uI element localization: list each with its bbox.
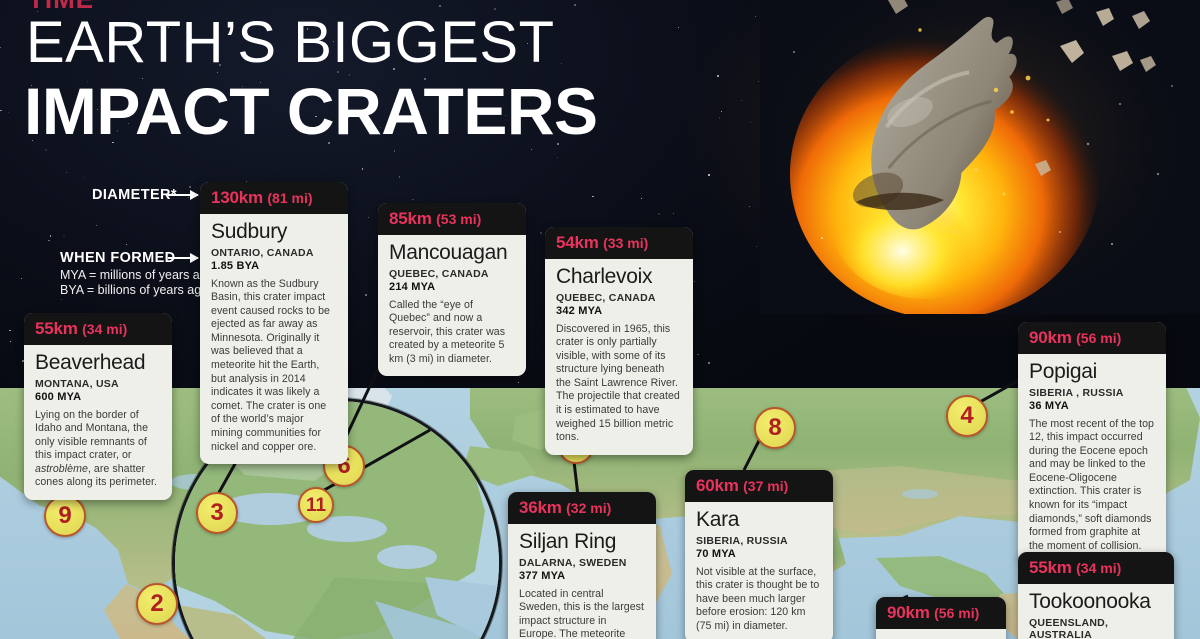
card-body: Popigai SIBERIA , RUSSIA 36 MYA The most… bbox=[1018, 354, 1166, 563]
legend-when-formed-label: WHEN FORMED bbox=[60, 250, 176, 266]
card-header: 90km (56 mi) bbox=[876, 597, 1006, 629]
crater-age: 70 MYA bbox=[696, 548, 822, 560]
crater-name: Popigai bbox=[1029, 360, 1155, 384]
diameter-km: 90km bbox=[1029, 328, 1072, 347]
card-body bbox=[876, 629, 1006, 639]
diameter-mi: (81 mi) bbox=[267, 190, 312, 206]
card-body: Siljan Ring DALARNA, SWEDEN 377 MYA Loca… bbox=[508, 524, 656, 639]
map-pin-11[interactable]: 11 bbox=[298, 487, 334, 523]
crater-location: QUEBEC, CANADA bbox=[556, 292, 682, 304]
crater-name: Sudbury bbox=[211, 220, 337, 244]
crater-age: 36 MYA bbox=[1029, 400, 1155, 412]
card-body: Beaverhead MONTANA, USA 600 MYA Lying on… bbox=[24, 345, 172, 500]
diameter-mi: (32 mi) bbox=[566, 500, 611, 516]
crater-name: Siljan Ring bbox=[519, 530, 645, 554]
diameter-mi: (37 mi) bbox=[743, 478, 788, 494]
crater-card-mancouagan[interactable]: 85km (53 mi) Mancouagan QUEBEC, CANADA 2… bbox=[378, 203, 526, 376]
crater-description: Lying on the border of Idaho and Montana… bbox=[35, 409, 161, 491]
crater-location: SIBERIA , RUSSIA bbox=[1029, 387, 1155, 399]
map-pin-number: 8 bbox=[768, 416, 781, 440]
map-pin-3[interactable]: 3 bbox=[196, 492, 238, 534]
crater-description: Located in central Sweden, this is the l… bbox=[519, 588, 645, 639]
legend-mya-note: MYA = millions of years ago bbox=[60, 268, 214, 283]
map-pin-number: 11 bbox=[306, 496, 326, 515]
card-body: Mancouagan QUEBEC, CANADA 214 MYA Called… bbox=[378, 235, 526, 376]
desc-italic-term: astroblème bbox=[35, 463, 88, 475]
diameter-mi: (33 mi) bbox=[603, 235, 648, 251]
map-pin-number: 4 bbox=[960, 404, 973, 428]
crater-name: Tookoonooka bbox=[1029, 590, 1163, 614]
map-pin-number: 2 bbox=[150, 592, 163, 616]
card-header: 55km (34 mi) bbox=[24, 313, 172, 345]
crater-description: Discovered in 1965, this crater is only … bbox=[556, 323, 682, 445]
crater-card-popigai[interactable]: 90km (56 mi) Popigai SIBERIA , RUSSIA 36… bbox=[1018, 322, 1166, 563]
crater-name: Mancouagan bbox=[389, 241, 515, 265]
card-header: 60km (37 mi) bbox=[685, 470, 833, 502]
desc-part-1: Lying on the border of Idaho and Montana… bbox=[35, 409, 148, 462]
map-pin-8[interactable]: 8 bbox=[754, 407, 796, 449]
map-pin-9[interactable]: 9 bbox=[44, 495, 86, 537]
page-title-line-1: EARTH’S BIGGEST bbox=[26, 14, 555, 72]
card-header: 130km (81 mi) bbox=[200, 182, 348, 214]
card-body: Kara SIBERIA, RUSSIA 70 MYA Not visible … bbox=[685, 502, 833, 639]
map-pin-number: 9 bbox=[58, 504, 71, 528]
diameter-mi: (56 mi) bbox=[934, 605, 979, 621]
crater-location: DALARNA, SWEDEN bbox=[519, 557, 645, 569]
diameter-km: 55km bbox=[1029, 558, 1072, 577]
diameter-mi: (34 mi) bbox=[82, 321, 127, 337]
crater-card-sudbury[interactable]: 130km (81 mi) Sudbury ONTARIO, CANADA 1.… bbox=[200, 182, 348, 464]
card-body: Sudbury ONTARIO, CANADA 1.85 BYA Known a… bbox=[200, 214, 348, 464]
crater-name: Beaverhead bbox=[35, 351, 161, 375]
diameter-km: 60km bbox=[696, 476, 739, 495]
crater-card-siljan-ring[interactable]: 36km (32 mi) Siljan Ring DALARNA, SWEDEN… bbox=[508, 492, 656, 639]
card-header: 54km (33 mi) bbox=[545, 227, 693, 259]
legend-diameter-label: DIAMETER* bbox=[92, 187, 177, 203]
diameter-mi: (56 mi) bbox=[1076, 330, 1121, 346]
diameter-km: 55km bbox=[35, 319, 78, 338]
crater-location: MONTANA, USA bbox=[35, 378, 161, 390]
diameter-km: 90km bbox=[887, 603, 930, 622]
crater-card-beaverhead[interactable]: 55km (34 mi) Beaverhead MONTANA, USA 600… bbox=[24, 313, 172, 500]
diameter-mi: (34 mi) bbox=[1076, 560, 1121, 576]
logo-text: TIME bbox=[28, 0, 94, 8]
crater-location: ONTARIO, CANADA bbox=[211, 247, 337, 259]
diameter-km: 54km bbox=[556, 233, 599, 252]
diameter-km: 85km bbox=[389, 209, 432, 228]
card-body: Charlevoix QUEBEC, CANADA 342 MYA Discov… bbox=[545, 259, 693, 455]
legend-bya-note: BYA = billions of years ago bbox=[60, 283, 208, 298]
card-body: Tookoonooka QUEENSLAND, AUSTRALIA 128 MY… bbox=[1018, 584, 1174, 639]
card-header: 90km (56 mi) bbox=[1018, 322, 1166, 354]
card-header: 55km (34 mi) bbox=[1018, 552, 1174, 584]
crater-age: 342 MYA bbox=[556, 305, 682, 317]
map-pin-4[interactable]: 4 bbox=[946, 395, 988, 437]
crater-card-tookoonooka[interactable]: 55km (34 mi) Tookoonooka QUEENSLAND, AUS… bbox=[1018, 552, 1174, 639]
crater-name: Kara bbox=[696, 508, 822, 532]
crater-age: 214 MYA bbox=[389, 281, 515, 293]
crater-card-bottom-center[interactable]: 90km (56 mi) bbox=[876, 597, 1006, 639]
crater-age: 600 MYA bbox=[35, 391, 161, 403]
card-header: 36km (32 mi) bbox=[508, 492, 656, 524]
crater-location: QUEENSLAND, AUSTRALIA bbox=[1029, 617, 1163, 639]
crater-description: Not visible at the surface, this crater … bbox=[696, 566, 822, 634]
crater-location: SIBERIA, RUSSIA bbox=[696, 535, 822, 547]
crater-card-charlevoix[interactable]: 54km (33 mi) Charlevoix QUEBEC, CANADA 3… bbox=[545, 227, 693, 455]
card-header: 85km (53 mi) bbox=[378, 203, 526, 235]
page-title-line-2: IMPACT CRATERS bbox=[24, 78, 598, 144]
legend-when-formed-arrow-icon bbox=[168, 257, 198, 259]
crater-age: 377 MYA bbox=[519, 570, 645, 582]
diameter-mi: (53 mi) bbox=[436, 211, 481, 227]
crater-age: 1.85 BYA bbox=[211, 260, 337, 272]
map-pin-2[interactable]: 2 bbox=[136, 583, 178, 625]
diameter-km: 130km bbox=[211, 188, 263, 207]
map-pin-number: 3 bbox=[210, 501, 223, 525]
crater-name: Charlevoix bbox=[556, 265, 682, 289]
publication-logo: TIME bbox=[28, 0, 208, 8]
infographic-root: TIME EARTH’S BIGGEST IMPACT CRATERS DIAM… bbox=[0, 0, 1200, 639]
crater-description: Called the “eye of Quebec” and now a res… bbox=[389, 299, 515, 367]
crater-description: Known as the Sudbury Basin, this crater … bbox=[211, 278, 337, 455]
asteroid-illustration bbox=[760, 0, 1200, 314]
crater-card-kara[interactable]: 60km (37 mi) Kara SIBERIA, RUSSIA 70 MYA… bbox=[685, 470, 833, 639]
crater-description: The most recent of the top 12, this impa… bbox=[1029, 418, 1155, 554]
legend-diameter-arrow-icon bbox=[168, 194, 198, 196]
diameter-km: 36km bbox=[519, 498, 562, 517]
crater-location: QUEBEC, CANADA bbox=[389, 268, 515, 280]
